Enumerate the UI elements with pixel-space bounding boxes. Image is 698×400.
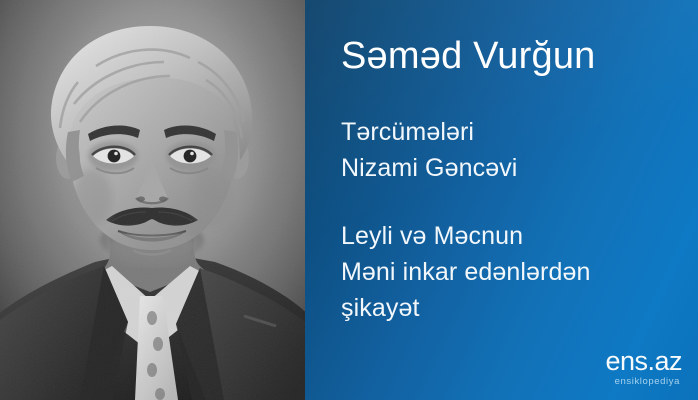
ens-az-logo[interactable]: ens.az ensiklopediya [605, 348, 682, 387]
work-block: Tərcümələri Nizami Gəncəvi [341, 114, 517, 186]
poem-block: Leyli və Məcnun Məni inkar edənlərdən şi… [341, 218, 590, 326]
poem-line-3: şikayət [341, 290, 590, 326]
quote-card: Səməd Vurğun Tərcümələri Nizami Gəncəvi … [0, 0, 698, 400]
work-line-1: Tərcümələri [341, 114, 517, 150]
portrait-photo [0, 0, 305, 400]
page-title: Səməd Vurğun [341, 36, 595, 77]
logo-wordmark: ens.az [605, 348, 682, 375]
logo-tagline: ensiklopediya [605, 377, 680, 387]
poem-line-1: Leyli və Məcnun [341, 218, 590, 254]
text-panel: Səməd Vurğun Tərcümələri Nizami Gəncəvi … [305, 0, 698, 400]
portrait-illustration [0, 0, 305, 400]
poem-line-2: Məni inkar edənlərdən [341, 254, 590, 290]
work-line-2: Nizami Gəncəvi [341, 150, 517, 186]
